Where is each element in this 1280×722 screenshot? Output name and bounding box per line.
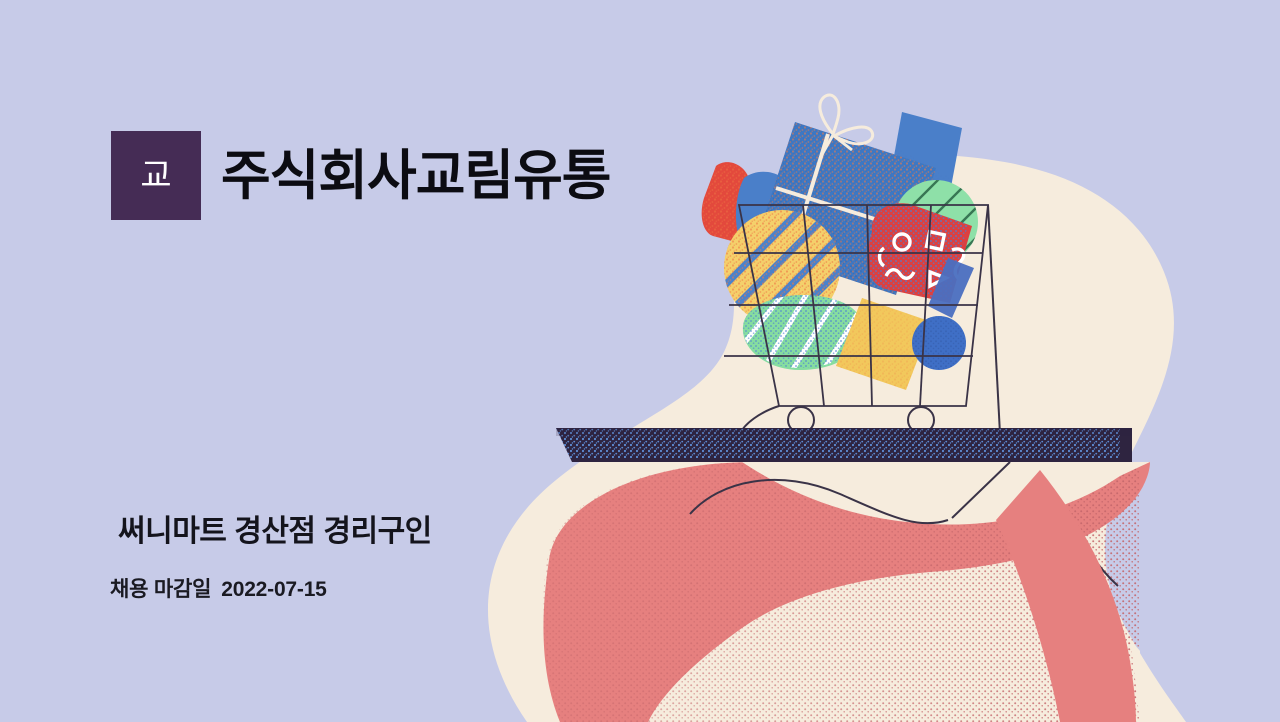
deadline-label: 채용 마감일	[110, 578, 211, 601]
company-logo-glyph: 교	[140, 159, 171, 193]
illustration-shopping-cart-with-gifts	[0, 0, 1280, 722]
job-title: 써니마트 경산점 경리구인	[118, 506, 432, 550]
job-posting-poster: 교 주식회사교림유통 써니마트 경산점 경리구인 채용 마감일2022-07-1…	[0, 0, 1280, 722]
company-logo-badge: 교	[111, 131, 201, 220]
company-header: 교 주식회사교림유통	[111, 131, 610, 220]
deadline-value: 2022-07-15	[221, 578, 326, 601]
company-name: 주식회사교림유통	[221, 149, 610, 203]
deadline-row: 채용 마감일2022-07-15	[110, 573, 327, 603]
dark-shelf-bar	[556, 426, 1136, 462]
hand-holding-shelf	[540, 460, 1180, 722]
